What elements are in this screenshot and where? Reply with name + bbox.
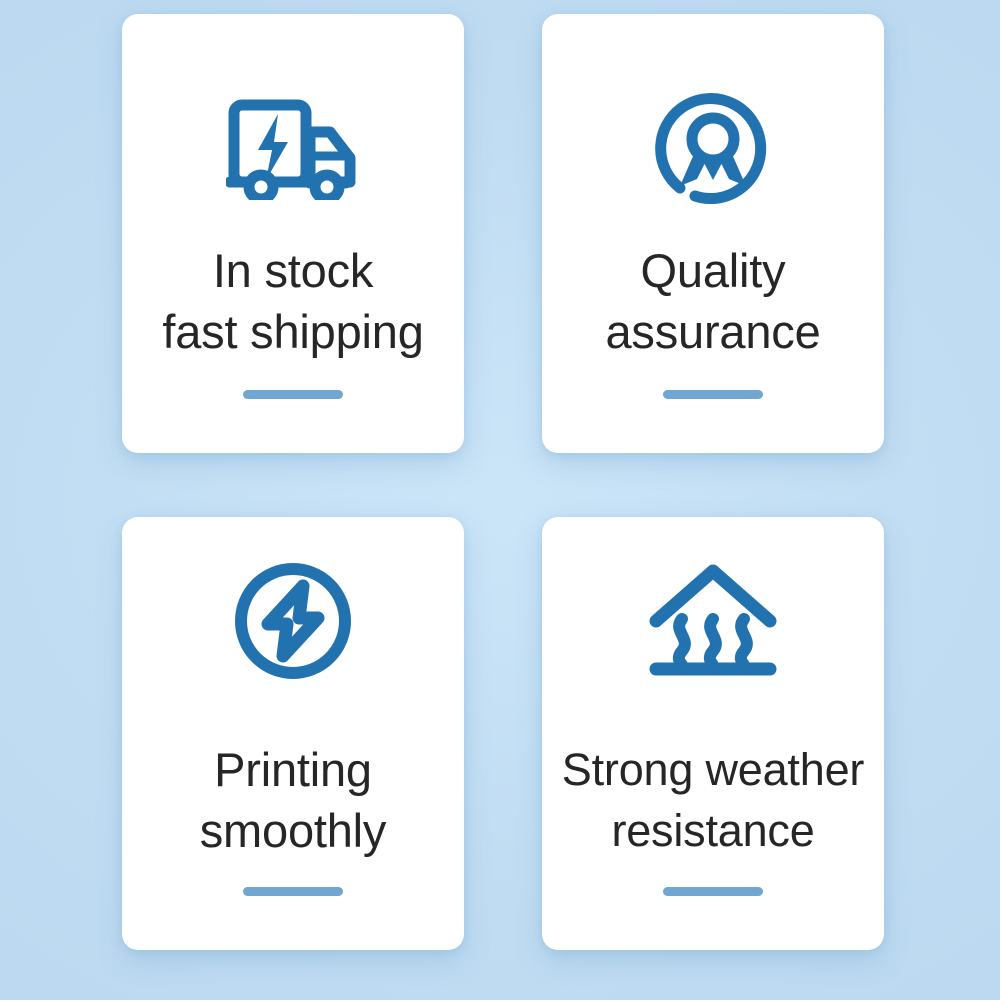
accent-bar — [663, 887, 763, 896]
accent-bar — [243, 887, 343, 896]
lightning-truck-icon — [213, 90, 373, 206]
card-title: In stock fast shipping — [162, 240, 423, 362]
card-title: Printing smoothly — [200, 739, 386, 861]
lightning-bolt-circle-icon — [213, 563, 373, 679]
feature-card-strong-weather-resistance[interactable]: Strong weather resistance — [542, 517, 884, 950]
feature-card-printing-smoothly[interactable]: Printing smoothly — [122, 517, 464, 950]
feature-highlights-page: In stock fast shipping Quality assurance — [0, 0, 1000, 1000]
accent-bar — [243, 390, 343, 399]
card-title: Quality assurance — [605, 240, 820, 362]
house-heat-waves-icon — [633, 563, 793, 679]
feature-card-quality-assurance[interactable]: Quality assurance — [542, 14, 884, 453]
feature-card-in-stock-fast-shipping[interactable]: In stock fast shipping — [122, 14, 464, 453]
quality-medal-circle-icon — [633, 90, 793, 206]
card-title: Strong weather resistance — [562, 739, 864, 861]
feature-card-grid: In stock fast shipping Quality assurance — [122, 14, 884, 950]
accent-bar — [663, 390, 763, 399]
